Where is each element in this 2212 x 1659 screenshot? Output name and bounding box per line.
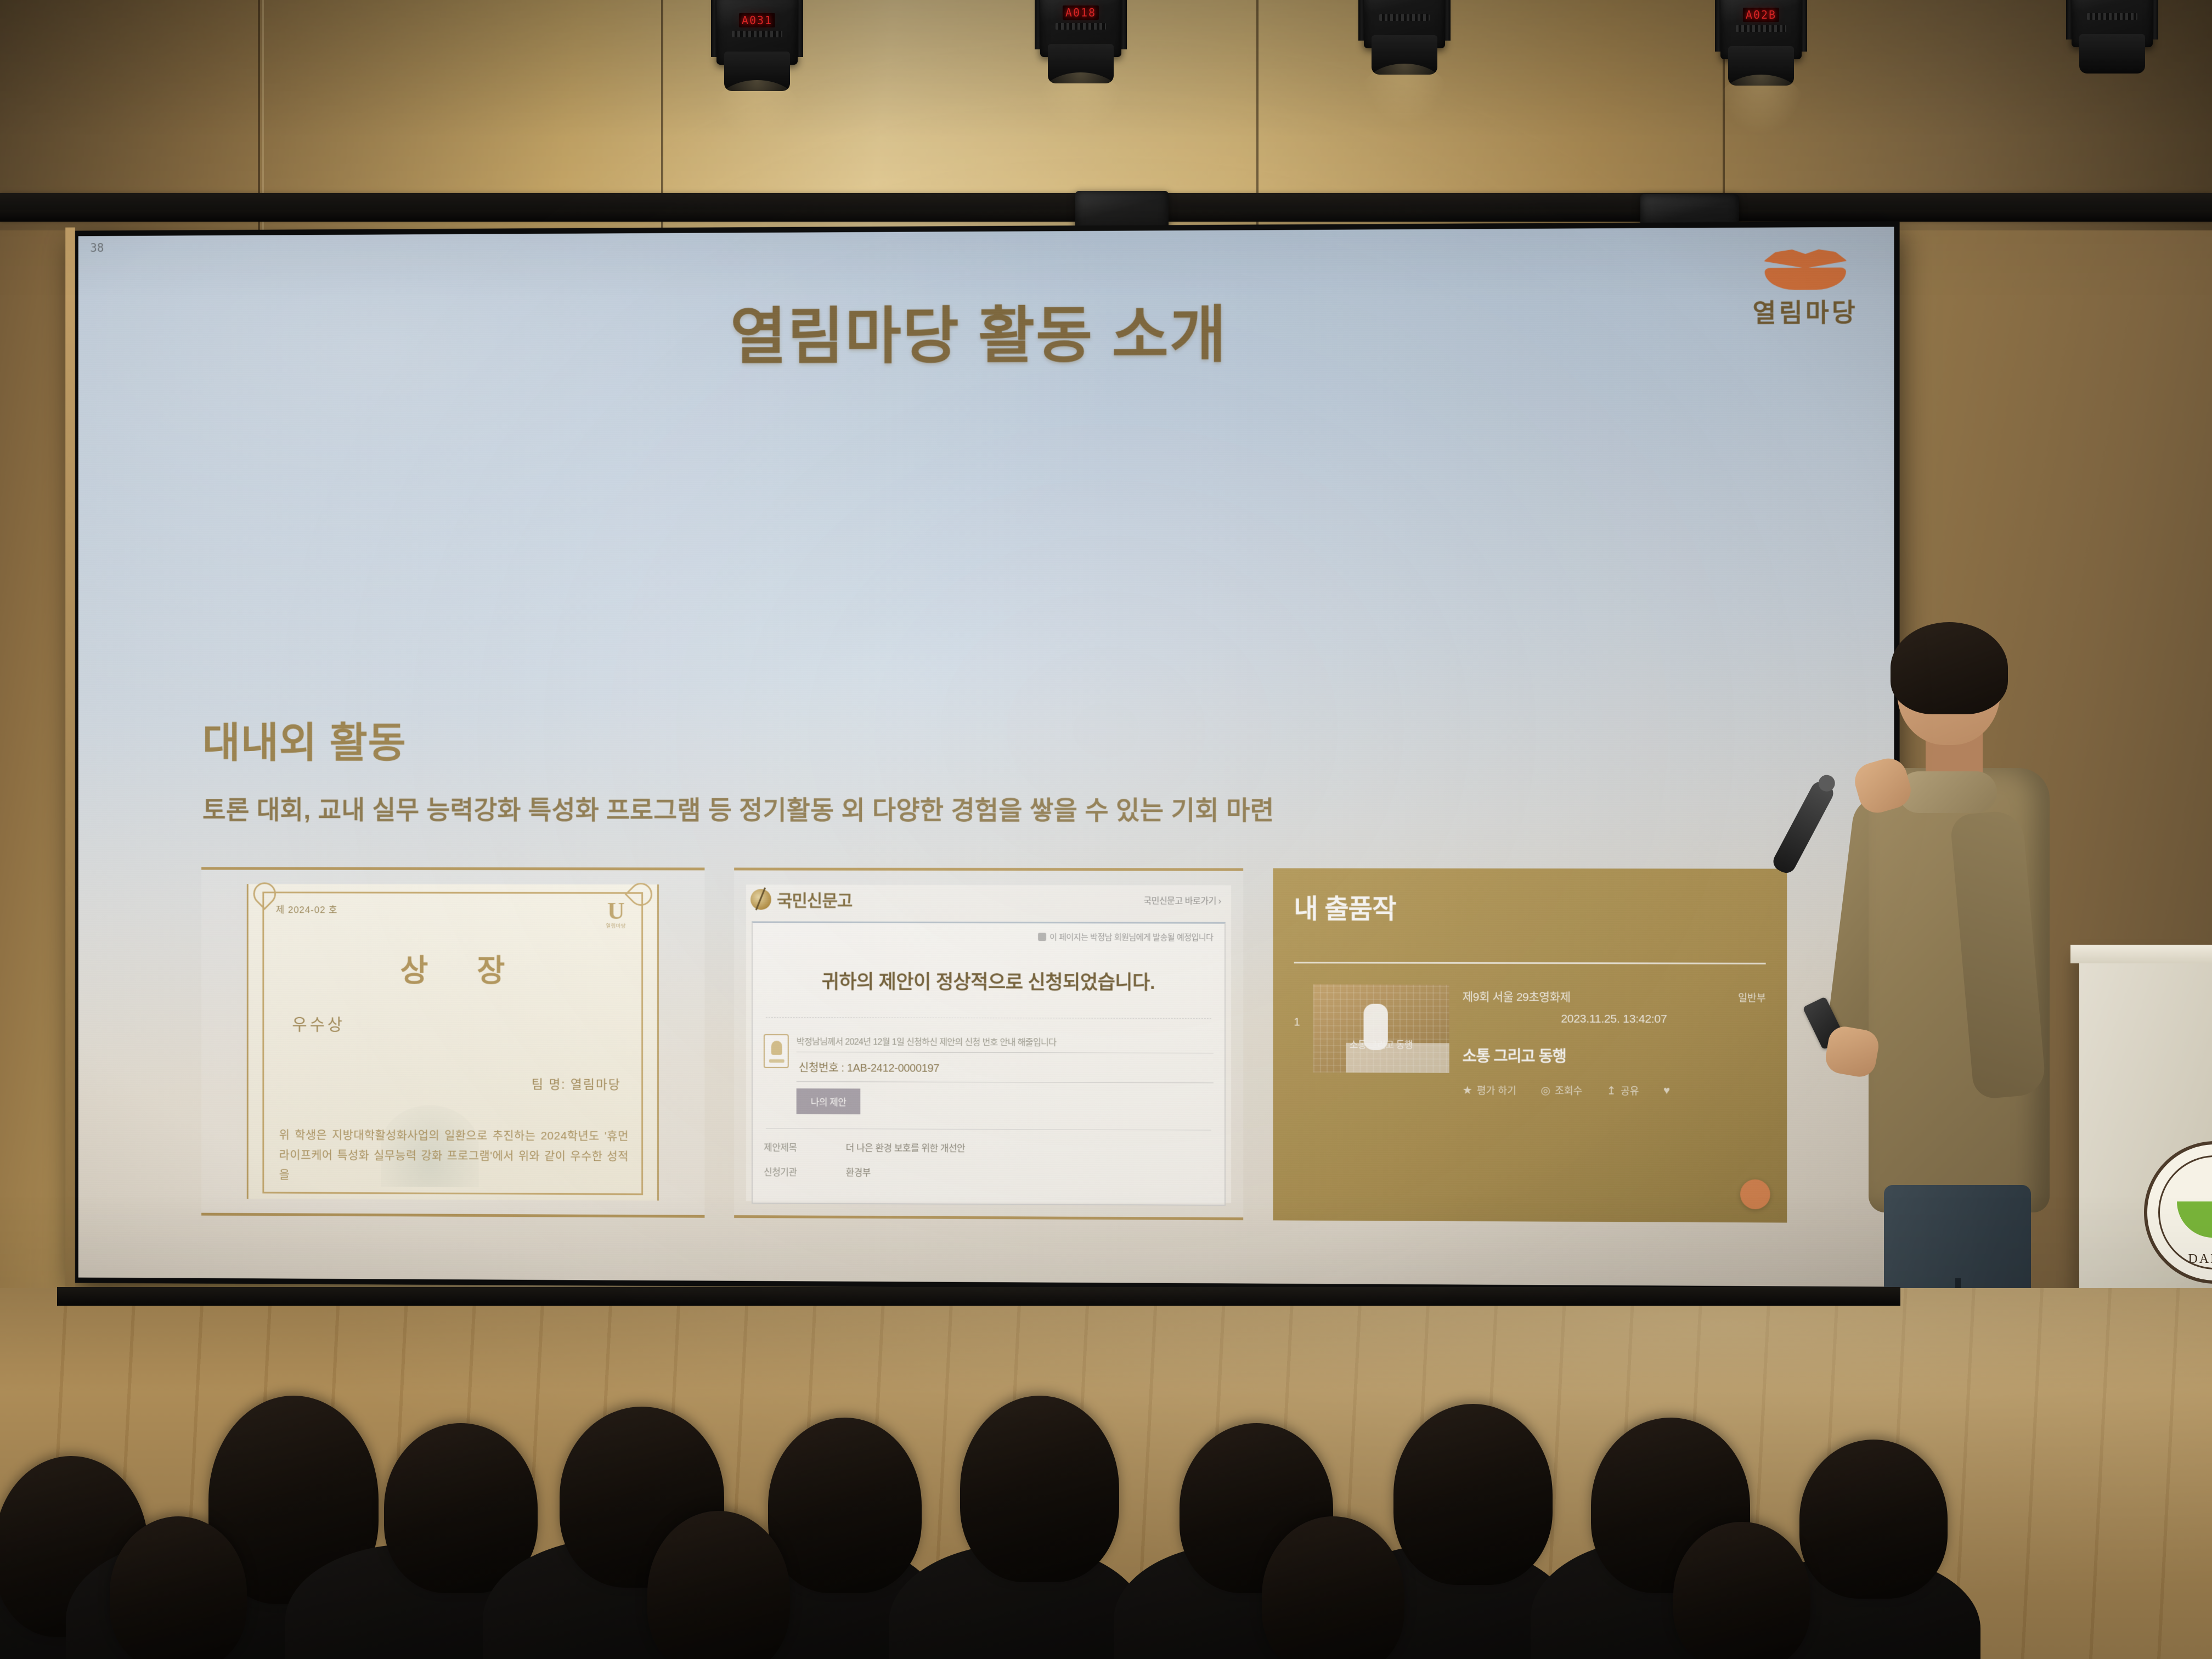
portal-notice-text: 이 페이지는 박정남 회원님에게 발송될 예정입니다 <box>1049 931 1213 943</box>
light-lens <box>1728 46 1794 86</box>
portal-seal-icon <box>751 889 771 910</box>
certificate-body: 위 학생은 지방대학활성화사업의 일환으로 추진하는 2024학년도 '휴먼라이… <box>279 1125 629 1187</box>
portal-top-link[interactable]: 국민신문고 바로가기 › <box>1143 893 1221 906</box>
entry-meta-top: 제9회 서울 29초영화제 일반부 <box>1463 988 1766 1005</box>
mail-icon <box>1038 933 1046 941</box>
light-lens <box>1372 35 1437 75</box>
audience-head <box>768 1418 922 1593</box>
scroll-top-icon[interactable] <box>1740 1180 1770 1210</box>
entry-screenshot: 내 출품작 1 소통 그리고 동행 <box>1273 868 1787 1223</box>
card-entry: 내 출품작 1 소통 그리고 동행 <box>1273 868 1787 1223</box>
portal-application-col: 박정남님께서 2024년 12월 1일 신청하신 제안의 신청 번호 안내 해줄… <box>797 1034 1214 1115</box>
entry-stat-views[interactable]: ◎ 조회수 <box>1541 1083 1582 1097</box>
slide-title: 열림마당 활동 소개 <box>78 282 1894 379</box>
portal-application-number: 신청번호 : 1AB-2412-0000197 <box>797 1052 1214 1083</box>
projection-screen-frame: 38 열림마당 활동 소개 열림마당 대내외 활동 토론 대회, 교내 실무 능… <box>73 221 1900 1292</box>
certificate-award: 우수상 <box>292 1011 345 1035</box>
entry-stat-label: 조회수 <box>1555 1083 1582 1097</box>
audience-head <box>1799 1440 1948 1599</box>
certificate-badge-icon <box>764 1034 789 1068</box>
certificate-seal-name: 열림마당 <box>601 922 631 929</box>
portal-panel: 국민신문고 국민신문고 바로가기 › 이 페이지는 박정남 회원님에게 발송될 … <box>734 868 1243 1221</box>
stage-light-2: A018 <box>1031 0 1130 137</box>
entry-film-title: 소통 그리고 동행 <box>1463 1044 1766 1067</box>
light-led-display: A031 <box>739 13 775 27</box>
brand-name: 열림마당 <box>1741 292 1870 330</box>
audience-head <box>1393 1404 1553 1585</box>
entry-stat-label: 공유 <box>1621 1084 1639 1098</box>
stage-light-1: A031 <box>708 0 806 145</box>
stage-light-4: A02B <box>1712 0 1810 139</box>
eye-icon: ◎ <box>1541 1084 1550 1097</box>
entry-title: 내 출품작 <box>1294 887 1765 927</box>
portal-description: 박정남님께서 2024년 12월 1일 신청하신 제안의 신청 번호 안내 해줄… <box>797 1034 1214 1048</box>
light-vent-icon <box>1056 23 1106 30</box>
section-block: 대내외 활동 토론 대회, 교내 실무 능력강화 특성화 프로그램 등 정기활동… <box>202 709 1274 827</box>
audience <box>0 1262 2212 1659</box>
auditorium-scene: A031 A018 A02B <box>0 0 2212 1659</box>
lips-icon <box>1764 249 1847 290</box>
heart-icon: ♥ <box>1663 1084 1670 1097</box>
portal-detail-value: 더 나은 환경 보호를 위한 개선안 <box>846 1140 966 1154</box>
projection-screen: 38 열림마당 활동 소개 열림마당 대내외 활동 토론 대회, 교내 실무 능… <box>78 227 1894 1286</box>
entry-stat-rating[interactable]: ★ 평가 하기 <box>1463 1083 1516 1097</box>
cards-row: 제 2024-02 호 U 열림마당 상 장 우수상 팀 명: 열림마당 위 학… <box>201 867 1787 1222</box>
portal-divider <box>766 1017 1211 1019</box>
entry-stat-share[interactable]: ↥ 공유 <box>1607 1084 1639 1098</box>
light-vent-icon <box>2087 13 2137 20</box>
certificate-document: 제 2024-02 호 U 열림마당 상 장 우수상 팀 명: 열림마당 위 학… <box>247 884 659 1200</box>
entry-meta: 제9회 서울 29초영화제 일반부 2023.11.25. 13:42:07 소… <box>1463 985 1766 1098</box>
certificate-title: 상 장 <box>264 946 641 991</box>
presenter-collar <box>1898 771 1997 813</box>
brand-logo: 열림마당 <box>1741 249 1870 329</box>
entry-submitted-at: 2023.11.25. 13:42:07 <box>1463 1012 1766 1026</box>
audience-head <box>960 1396 1119 1582</box>
entry-list-item: 1 소통 그리고 동행 제9회 서울 29초영화제 일반부 <box>1294 984 1765 1098</box>
portal-logo-text: 국민신문고 <box>777 887 852 912</box>
thumbnail-light-band <box>1346 1043 1449 1073</box>
entry-stat-label: 평가 하기 <box>1477 1083 1516 1097</box>
audience-head <box>1673 1522 1810 1659</box>
portal-screenshot: 국민신문고 국민신문고 바로가기 › 이 페이지는 박정남 회원님에게 발송될 … <box>746 884 1231 1203</box>
certificate-border: 제 2024-02 호 U 열림마당 상 장 우수상 팀 명: 열림마당 위 학… <box>262 891 643 1195</box>
podium-top-surface <box>2070 945 2212 963</box>
light-led-display: A02B <box>1743 8 1779 22</box>
light-lens <box>2079 34 2145 74</box>
stage-light-5 <box>2063 0 2162 127</box>
certificate-seal: U 열림마당 <box>601 900 631 929</box>
share-icon: ↥ <box>1607 1084 1616 1097</box>
university-u-icon: U <box>601 900 631 922</box>
portal-divider-2 <box>766 1128 1211 1131</box>
entry-divider <box>1294 962 1765 964</box>
portal-detail-row: 신청기관 환경부 <box>764 1164 1213 1180</box>
section-subtitle: 토론 대회, 교내 실무 능력강화 특성화 프로그램 등 정기활동 외 다양한 … <box>202 789 1274 827</box>
portal-header: 국민신문고 국민신문고 바로가기 › <box>746 884 1231 912</box>
light-lens <box>1048 44 1114 83</box>
portal-detail-row: 제안제목 더 나은 환경 보호를 위한 개선안 <box>764 1140 1213 1155</box>
portal-notice: 이 페이지는 박정남 회원님에게 발송될 예정입니다 <box>764 930 1213 943</box>
presenter-hair <box>1891 622 2008 714</box>
certificate-number: 제 2024-02 호 <box>276 902 338 916</box>
stage-light-3 <box>1355 0 1454 134</box>
certificate-team: 팀 명: 열림마당 <box>532 1074 621 1092</box>
screen-corner-code: 38 <box>90 241 104 255</box>
portal-detail-key: 신청기관 <box>764 1164 845 1178</box>
entry-division: 일반부 <box>1738 990 1765 1005</box>
card-certificate: 제 2024-02 호 U 열림마당 상 장 우수상 팀 명: 열림마당 위 학… <box>201 867 705 1217</box>
portal-detail-value: 환경부 <box>846 1165 871 1178</box>
portal-detail-key: 제안제목 <box>764 1140 845 1154</box>
certificate-panel: 제 2024-02 호 U 열림마당 상 장 우수상 팀 명: 열림마당 위 학… <box>201 867 705 1217</box>
light-vent-icon <box>1736 25 1786 32</box>
section-heading: 대내외 활동 <box>202 709 1274 769</box>
my-proposal-button[interactable]: 나의 제안 <box>797 1088 860 1114</box>
light-lens <box>724 52 790 91</box>
portal-brand: 국민신문고 <box>751 887 852 911</box>
entry-thumbnail[interactable]: 소통 그리고 동행 <box>1313 984 1449 1073</box>
card-portal: 국민신문고 국민신문고 바로가기 › 이 페이지는 박정남 회원님에게 발송될 … <box>734 868 1243 1221</box>
entry-festival: 제9회 서울 29초영화제 <box>1463 988 1571 1005</box>
light-led-display: A018 <box>1063 5 1099 20</box>
portal-content-box: 이 페이지는 박정남 회원님에게 발송될 예정입니다 귀하의 제안이 정상적으로… <box>752 921 1225 1206</box>
portal-application-block: 박정남님께서 2024년 12월 1일 신청하신 제안의 신청 번호 안내 해줄… <box>764 1034 1213 1116</box>
star-icon: ★ <box>1463 1083 1472 1097</box>
light-vent-icon <box>1379 14 1430 21</box>
entry-stat-like[interactable]: ♥ <box>1663 1084 1670 1098</box>
light-vent-icon <box>732 31 782 37</box>
portal-headline: 귀하의 제안이 정상적으로 신청되었습니다. <box>764 966 1213 995</box>
entry-index: 1 <box>1294 984 1300 1097</box>
entry-stats: ★ 평가 하기 ◎ 조회수 ↥ 공유 <box>1463 1083 1766 1098</box>
